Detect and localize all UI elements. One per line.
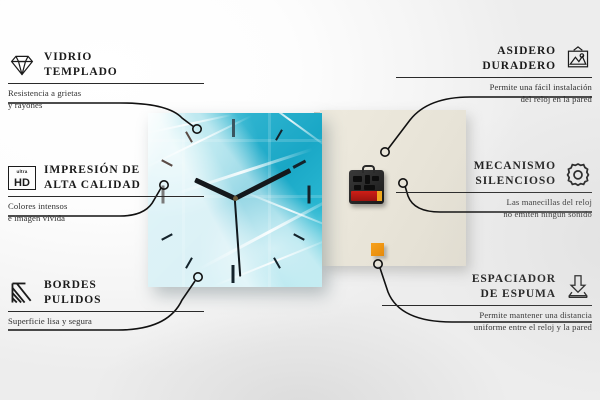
feature-heading: ultra HD IMPRESIÓN DE ALTA CALIDAD [8,163,204,193]
feature-heading: VIDRIO TEMPLADO [8,50,204,80]
diamond-icon [8,52,36,78]
feature-asidero-duradero: ASIDERO DURADERO Permite una fácil insta… [396,44,592,106]
feature-title: MECANISMO SILENCIOSO [474,159,556,189]
feature-title-line2: DE ESPUMA [472,287,556,302]
feature-title-line1: IMPRESIÓN DE [44,163,141,178]
connector-dot-vidrio [193,125,201,133]
feature-subtitle: Las manecillas del reloj no emiten ningú… [396,197,592,221]
down-arrow-pad-icon [564,274,592,300]
feature-subtitle: Permite una fácil instalación del reloj … [396,82,592,106]
feature-heading: MECANISMO SILENCIOSO [396,159,592,189]
feature-heading: BORDES PULIDOS [8,278,204,308]
feature-title-line1: ESPACIADOR [472,272,556,287]
feature-subtitle: Colores intensos e imagen vívida [8,201,204,225]
polished-edges-icon [8,280,36,306]
feature-title-line2: SILENCIOSO [474,174,556,189]
feature-divider [382,305,592,306]
feature-title: BORDES PULIDOS [44,278,101,308]
feature-bordes-pulidos: BORDES PULIDOS Superficie lisa y segura [8,278,204,328]
connector-dot-espaciador [374,260,382,268]
feature-divider [8,196,204,197]
feature-divider [8,83,204,84]
picture-hanger-icon [564,46,592,72]
feature-title-line1: BORDES [44,278,101,293]
gear-icon [564,161,592,187]
feature-vidrio-templado: VIDRIO TEMPLADO Resistencia a grietas y … [8,50,204,112]
feature-subtitle: Permite mantener una distancia uniforme … [382,310,592,334]
feature-title-line1: VIDRIO [44,50,118,65]
feature-title: VIDRIO TEMPLADO [44,50,118,80]
feature-title-line1: ASIDERO [482,44,556,59]
feature-divider [8,311,204,312]
feature-title: ESPACIADOR DE ESPUMA [472,272,556,302]
feature-title-line1: MECANISMO [474,159,556,174]
infographic-canvas: VIDRIO TEMPLADO Resistencia a grietas y … [0,0,600,400]
feature-mecanismo-silencioso: MECANISMO SILENCIOSO Las manecillas del … [396,159,592,221]
feature-title-line2: TEMPLADO [44,65,118,80]
feature-divider [396,77,592,78]
feature-subtitle: Resistencia a grietas y rayones [8,88,204,112]
feature-impresion-alta-calidad: ultra HD IMPRESIÓN DE ALTA CALIDAD Color… [8,163,204,225]
feature-title-line2: ALTA CALIDAD [44,178,141,193]
feature-title: IMPRESIÓN DE ALTA CALIDAD [44,163,141,193]
ultra-hd-icon: ultra HD [8,166,36,190]
feature-heading: ESPACIADOR DE ESPUMA [382,272,592,302]
feature-subtitle: Superficie lisa y segura [8,316,204,328]
feature-divider [396,192,592,193]
feature-espaciador-de-espuma: ESPACIADOR DE ESPUMA Permite mantener un… [382,272,592,334]
feature-title-line2: PULIDOS [44,293,101,308]
connector-dot-asidero [381,148,389,156]
feature-heading: ASIDERO DURADERO [396,44,592,74]
feature-title-line2: DURADERO [482,59,556,74]
feature-title: ASIDERO DURADERO [482,44,556,74]
